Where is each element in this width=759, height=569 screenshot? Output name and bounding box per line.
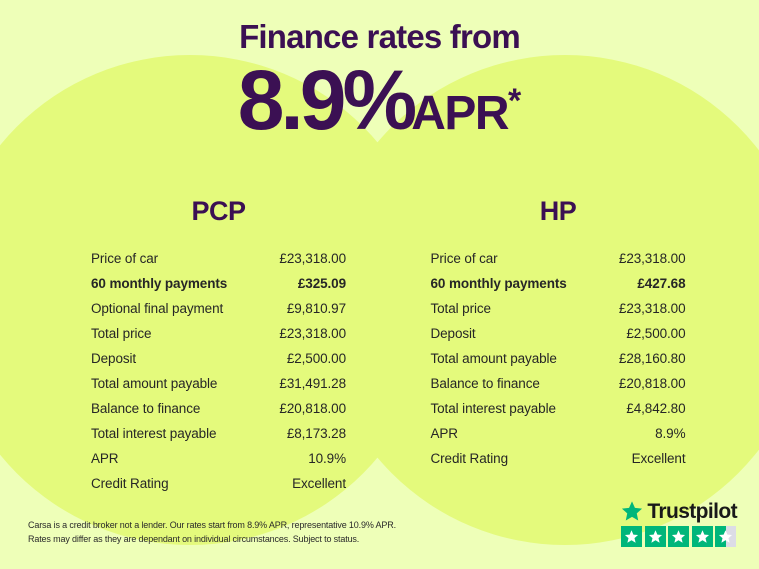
finance-table-hp: HP Price of car£23,318.0060 monthly paym… xyxy=(380,196,759,496)
disclaimer-line-1: Carsa is a credit broker not a lender. O… xyxy=(28,519,448,533)
row-label: 60 monthly payments xyxy=(91,276,227,291)
rate-unit: APR xyxy=(411,90,508,138)
promo-canvas: Finance rates from 8.9% APR * PCP Price … xyxy=(0,0,759,569)
row-label: Total interest payable xyxy=(431,401,556,416)
row-value: £325.09 xyxy=(298,276,346,291)
row-value: £8,173.28 xyxy=(287,426,346,441)
disclaimer-text: Carsa is a credit broker not a lender. O… xyxy=(28,519,448,547)
table-row: Deposit£2,500.00 xyxy=(431,321,686,346)
finance-table-pcp: PCP Price of car£23,318.0060 monthly pay… xyxy=(0,196,380,496)
table-row: Price of car£23,318.00 xyxy=(91,246,346,271)
row-label: Total price xyxy=(431,301,491,316)
trustpilot-star xyxy=(621,526,642,547)
table-rows-pcp: Price of car£23,318.0060 monthly payment… xyxy=(91,246,346,496)
row-value: Excellent xyxy=(292,476,346,491)
row-label: APR xyxy=(431,426,458,441)
trustpilot-badge[interactable]: Trustpilot xyxy=(621,500,737,547)
row-label: Deposit xyxy=(431,326,476,341)
row-value: 10.9% xyxy=(308,451,346,466)
row-label: Price of car xyxy=(431,251,498,266)
finance-tables: PCP Price of car£23,318.0060 monthly pay… xyxy=(0,196,759,496)
row-label: APR xyxy=(91,451,118,466)
row-value: £427.68 xyxy=(637,276,685,291)
table-title-hp: HP xyxy=(431,196,686,227)
table-title-pcp: PCP xyxy=(91,196,346,227)
page-title: Finance rates from xyxy=(0,18,759,56)
trustpilot-star xyxy=(645,526,666,547)
row-label: Balance to finance xyxy=(431,376,540,391)
table-row: Deposit£2,500.00 xyxy=(91,346,346,371)
row-label: Credit Rating xyxy=(91,476,169,491)
row-label: Credit Rating xyxy=(431,451,509,466)
table-row: Total price£23,318.00 xyxy=(91,321,346,346)
row-value: £9,810.97 xyxy=(287,301,346,316)
table-row: Total interest payable£8,173.28 xyxy=(91,421,346,446)
rate-value: 8.9% xyxy=(238,58,413,142)
row-value: £4,842.80 xyxy=(626,401,685,416)
trustpilot-star-rating xyxy=(621,526,737,547)
row-value: £23,318.00 xyxy=(619,301,686,316)
trustpilot-star xyxy=(715,526,736,547)
table-row: APR8.9% xyxy=(431,421,686,446)
trustpilot-star-icon xyxy=(621,500,643,522)
rate-asterisk: * xyxy=(508,84,521,118)
row-label: Total price xyxy=(91,326,151,341)
row-value: £28,160.80 xyxy=(619,351,686,366)
disclaimer-line-2: Rates may differ as they are dependant o… xyxy=(28,533,448,547)
table-row: Total interest payable£4,842.80 xyxy=(431,396,686,421)
row-label: Balance to finance xyxy=(91,401,200,416)
row-value: £20,818.00 xyxy=(279,401,346,416)
rate-headline: 8.9% APR * xyxy=(0,58,759,142)
table-row: Credit RatingExcellent xyxy=(431,446,686,471)
trustpilot-logo: Trustpilot xyxy=(621,500,737,522)
row-value: £2,500.00 xyxy=(626,326,685,341)
row-value: Excellent xyxy=(632,451,686,466)
table-row: Balance to finance£20,818.00 xyxy=(91,396,346,421)
table-row: 60 monthly payments£427.68 xyxy=(431,271,686,296)
row-label: Total amount payable xyxy=(91,376,217,391)
row-value: £23,318.00 xyxy=(279,326,346,341)
header: Finance rates from 8.9% APR * xyxy=(0,18,759,142)
table-rows-hp: Price of car£23,318.0060 monthly payment… xyxy=(431,246,686,471)
row-value: £2,500.00 xyxy=(287,351,346,366)
table-row: Price of car£23,318.00 xyxy=(431,246,686,271)
table-row: APR10.9% xyxy=(91,446,346,471)
row-label: Total amount payable xyxy=(431,351,557,366)
row-value: £31,491.28 xyxy=(279,376,346,391)
table-row: 60 monthly payments£325.09 xyxy=(91,271,346,296)
trustpilot-star xyxy=(668,526,689,547)
row-value: £20,818.00 xyxy=(619,376,686,391)
table-row: Balance to finance£20,818.00 xyxy=(431,371,686,396)
table-row: Total amount payable£28,160.80 xyxy=(431,346,686,371)
row-label: Deposit xyxy=(91,351,136,366)
row-value: 8.9% xyxy=(655,426,685,441)
row-value: £23,318.00 xyxy=(619,251,686,266)
trustpilot-star xyxy=(692,526,713,547)
trustpilot-wordmark: Trustpilot xyxy=(647,501,737,522)
table-row: Total price£23,318.00 xyxy=(431,296,686,321)
row-label: Optional final payment xyxy=(91,301,223,316)
row-value: £23,318.00 xyxy=(279,251,346,266)
table-row: Optional final payment£9,810.97 xyxy=(91,296,346,321)
table-row: Total amount payable£31,491.28 xyxy=(91,371,346,396)
row-label: Price of car xyxy=(91,251,158,266)
row-label: 60 monthly payments xyxy=(431,276,567,291)
row-label: Total interest payable xyxy=(91,426,216,441)
table-row: Credit RatingExcellent xyxy=(91,471,346,496)
